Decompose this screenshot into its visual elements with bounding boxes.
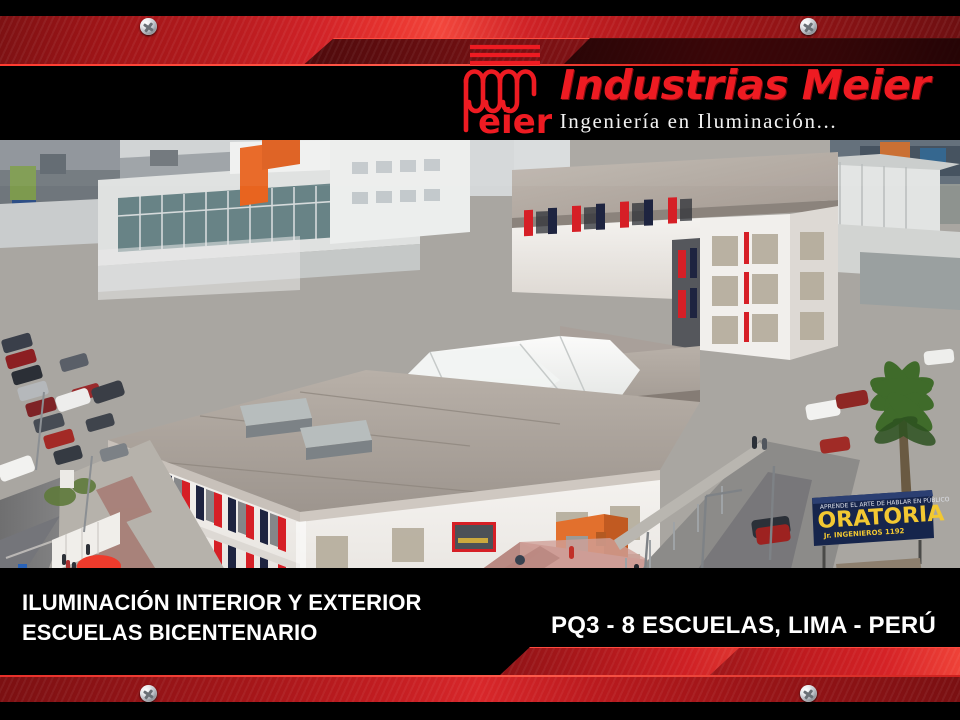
screw-icon-bottom-right [800,685,817,702]
caption-project: PQ3 - 8 ESCUELAS, LIMA - PERÚ [551,612,936,640]
caption-left: ILUMINACIÓN INTERIOR Y EXTERIOR ESCUELAS… [22,588,422,648]
screw-icon-bottom-left [140,685,157,702]
meier-coil-logo-icon: eier [456,38,552,138]
brand-tagline: Ingeniería en Iluminación... [560,108,930,134]
svg-text:eier: eier [478,102,552,138]
presentation-slide: eier Industrias Meier Ingeniería en Ilum… [0,0,960,720]
bottom-band-wedge-right [710,647,960,675]
brand-name: Industrias Meier [560,65,930,106]
brand-lockup: eier Industrias Meier Ingeniería en Ilum… [456,38,930,138]
caption-line-2: ESCUELAS BICENTENARIO [22,618,422,648]
header-bar: eier Industrias Meier Ingeniería en Ilum… [0,66,960,140]
caption-line-1: ILUMINACIÓN INTERIOR Y EXTERIOR [22,588,422,618]
project-photo: ORATORIA APRENDE EL ARTE DE HABLAR EN PÚ… [0,140,960,568]
bottom-band-wedge-left [500,647,750,675]
screw-icon-top-right [800,18,817,35]
screw-icon-top-left [140,18,157,35]
brand-text-block: Industrias Meier Ingeniería en Iluminaci… [560,65,930,138]
